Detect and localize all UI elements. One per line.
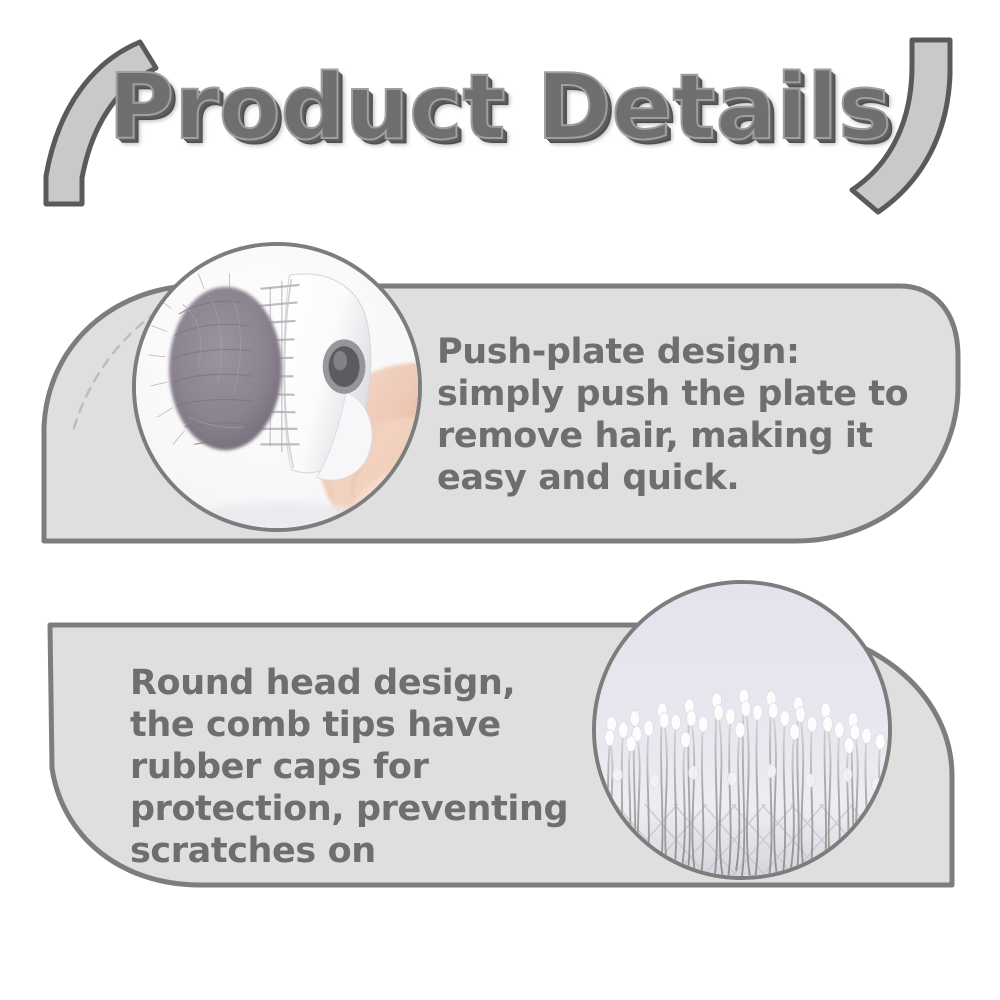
- product-details-page: Product Details: [0, 0, 1000, 1000]
- photo-brush-with-hair: [132, 242, 422, 532]
- section-2-description: Round head design, the comb tips have ru…: [130, 662, 580, 872]
- bristle-closeup-photo: [596, 584, 888, 876]
- photo-bristle-closeup: [592, 580, 892, 880]
- page-title: Product Details: [0, 58, 1000, 158]
- section-1-description: Push-plate design: simply push the plate…: [437, 331, 927, 499]
- section-push-plate: Push-plate design: simply push the plate…: [0, 236, 1000, 556]
- brush-with-hair-photo: [136, 246, 418, 528]
- section-round-head: Round head design, the comb tips have ru…: [0, 560, 1000, 900]
- header-banner: Product Details: [0, 0, 1000, 240]
